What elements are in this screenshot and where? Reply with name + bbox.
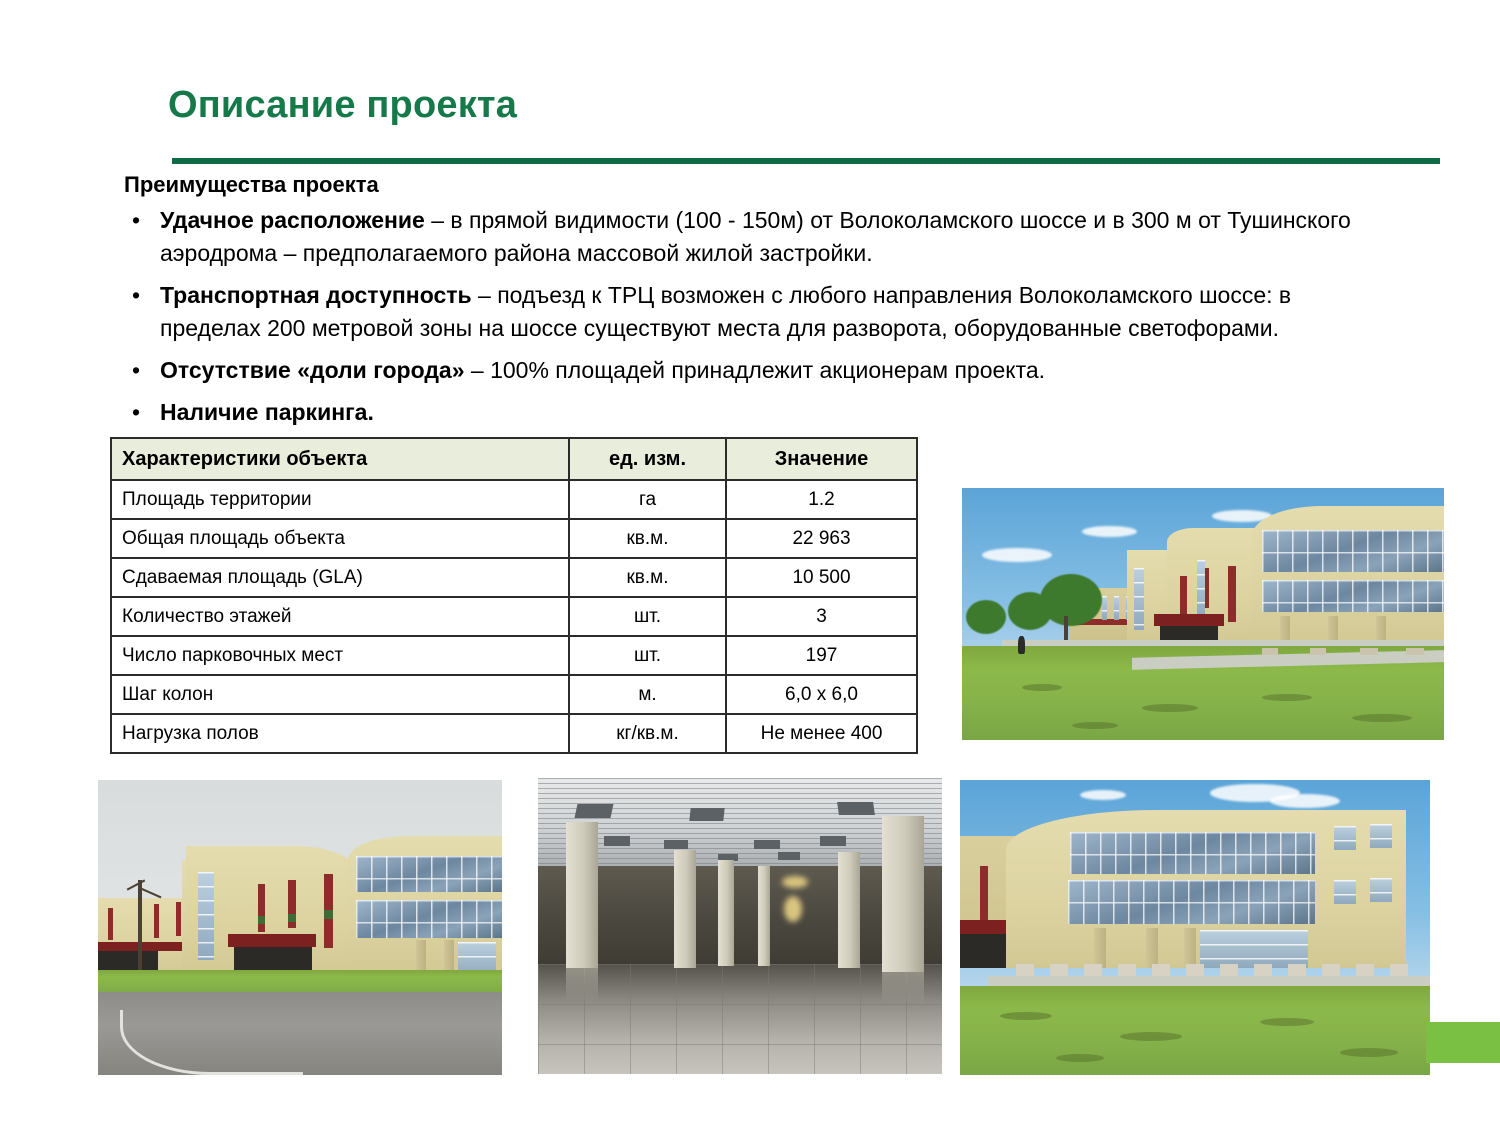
ceiling-light-panel: [837, 802, 875, 815]
cloud-shape: [1270, 794, 1340, 808]
interior-column: [674, 850, 696, 968]
ceiling-light-panel: [689, 808, 724, 821]
ceiling-light-panel: [575, 804, 614, 818]
colonnade-column: [1184, 928, 1196, 968]
lawn: [960, 986, 1430, 1075]
interior-column: [718, 860, 734, 966]
facade-accent-stripe: [258, 916, 265, 924]
tree-shape: [1008, 592, 1052, 630]
column-reflection: [566, 968, 598, 1002]
curtain-wall-glazing: [356, 900, 502, 938]
window-strip: [1114, 596, 1119, 620]
bollard: [1310, 648, 1326, 655]
facade-accent-stripe: [980, 866, 988, 922]
ceiling-light-panel: [820, 836, 846, 846]
list-item-lead: Удачное расположение: [160, 207, 425, 233]
interior-column: [566, 822, 598, 968]
tower-glazing: [198, 872, 214, 960]
column-header-characteristic: Характеристики объекта: [111, 438, 569, 480]
list-item-text: – 100% площадей принадлежит акционерам п…: [465, 357, 1046, 383]
facade-accent-stripe: [258, 884, 265, 932]
cell-unit: кв.м.: [569, 558, 726, 597]
table-header-row: Характеристики объекта ед. изм. Значение: [111, 438, 917, 480]
advantages-list: • Удачное расположение – в прямой видимо…: [124, 204, 1354, 438]
curtain-wall-glazing: [356, 856, 502, 892]
cell-unit: м.: [569, 675, 726, 714]
cell-value: 6,0 х 6,0: [726, 675, 917, 714]
curtain-wall-glazing: [1068, 880, 1315, 924]
entrance-doors: [1200, 930, 1308, 968]
grass-texture: [1352, 714, 1412, 722]
curtain-wall-glazing: [1070, 832, 1315, 874]
list-item: • Отсутствие «доли города» – 100% площад…: [124, 354, 1354, 387]
facade-accent-stripe: [324, 910, 333, 919]
photo-interior-hall: [538, 778, 942, 1074]
bullet-dot-icon: •: [132, 204, 140, 237]
table-row: Нагрузка полов кг/кв.м. Не менее 400: [111, 714, 917, 753]
column-reflection: [882, 972, 924, 1004]
window: [1370, 824, 1392, 848]
cell-characteristic: Количество этажей: [111, 597, 569, 636]
cell-value: 10 500: [726, 558, 917, 597]
cell-characteristic: Шаг колон: [111, 675, 569, 714]
entrance-canopy: [1154, 614, 1224, 626]
cell-unit: га: [569, 480, 726, 519]
cloud-shape: [1080, 790, 1126, 800]
facade-accent-stripe: [108, 908, 113, 940]
table-row: Количество этажей шт. 3: [111, 597, 917, 636]
bullet-dot-icon: •: [132, 279, 140, 312]
cell-value: 3: [726, 597, 917, 636]
bollard: [1360, 648, 1378, 655]
cell-characteristic: Общая площадь объекта: [111, 519, 569, 558]
ceiling-light-panel: [754, 840, 780, 849]
list-item-lead: Транспортная доступность: [160, 282, 472, 308]
table-row: Площадь территории га 1.2: [111, 480, 917, 519]
window-strip: [1102, 596, 1107, 620]
column-header-unit: ед. изм.: [569, 438, 726, 480]
entrance-canopy: [228, 934, 316, 947]
canopy-band: [98, 942, 194, 951]
colonnade-column: [1094, 928, 1106, 968]
cell-characteristic: Площадь территории: [111, 480, 569, 519]
table-row: Сдаваемая площадь (GLA) кв.м. 10 500: [111, 558, 917, 597]
cloud-shape: [982, 548, 1052, 562]
far-light-glow: [782, 876, 808, 888]
floor-light-reflection: [784, 896, 802, 922]
cell-unit: кв.м.: [569, 519, 726, 558]
photo-exterior-glass-facade: [960, 780, 1430, 1075]
bollard-row: [1016, 964, 1416, 976]
interior-column: [882, 816, 924, 972]
grass-texture: [1262, 694, 1312, 701]
bollard: [1262, 648, 1278, 655]
grass-texture: [1142, 704, 1198, 712]
grass-texture: [1022, 684, 1062, 691]
table-row: Число парковочных мест шт. 197: [111, 636, 917, 675]
cell-unit: шт.: [569, 636, 726, 675]
bollard: [1406, 648, 1424, 655]
interior-column: [758, 866, 770, 966]
bullet-dot-icon: •: [132, 396, 140, 429]
facade-accent-stripe: [176, 902, 181, 936]
column-header-value: Значение: [726, 438, 917, 480]
cell-value: 1.2: [726, 480, 917, 519]
colonnade-column: [1146, 928, 1158, 968]
decorative-accent-block: [1426, 1022, 1500, 1063]
facade-accent-stripe: [154, 904, 159, 938]
section-subheading: Преимущества проекта: [124, 172, 379, 198]
cell-value: Не менее 400: [726, 714, 917, 753]
window: [1334, 826, 1356, 850]
bullet-dot-icon: •: [132, 354, 140, 387]
ceiling-light-panel: [604, 836, 630, 846]
cell-characteristic: Нагрузка полов: [111, 714, 569, 753]
cell-unit: шт.: [569, 597, 726, 636]
grass-texture: [1260, 1018, 1314, 1026]
photo-exterior-front-sunny: [962, 488, 1444, 740]
grass-texture: [1340, 1048, 1398, 1057]
tree-trunk: [138, 880, 142, 972]
object-specs-table: Характеристики объекта ед. изм. Значение…: [110, 437, 918, 754]
grass-texture: [1056, 1054, 1104, 1062]
facade-accent-stripe: [288, 914, 296, 922]
colonnade-column: [416, 940, 426, 974]
tower-glazing: [1134, 568, 1144, 630]
grass-texture: [1120, 1032, 1182, 1041]
cell-characteristic: Сдаваемая площадь (GLA): [111, 558, 569, 597]
ceiling-light-panel: [778, 852, 800, 860]
cell-value: 197: [726, 636, 917, 675]
grass-texture: [1000, 1012, 1052, 1020]
grass-texture: [1072, 722, 1118, 729]
tower-glazing: [1197, 560, 1205, 618]
curtain-wall-glazing: [1262, 530, 1444, 572]
facade-accent-stripe: [1228, 566, 1236, 622]
title-divider-rule: [172, 158, 1440, 164]
window: [1334, 880, 1356, 904]
interior-column: [838, 852, 860, 968]
list-item-lead: Отсутствие «доли города»: [160, 357, 465, 383]
table-row: Общая площадь объекта кв.м. 22 963: [111, 519, 917, 558]
colonnade-column: [444, 940, 454, 974]
window: [1370, 878, 1392, 902]
cell-characteristic: Число парковочных мест: [111, 636, 569, 675]
list-item: • Наличие паркинга.: [124, 396, 1354, 429]
tree-trunk: [1064, 616, 1068, 642]
ceiling-light-panel: [664, 840, 688, 849]
list-item: • Транспортная доступность – подъезд к Т…: [124, 279, 1354, 345]
cell-unit: кг/кв.м.: [569, 714, 726, 753]
tree-shape: [966, 600, 1006, 634]
curtain-wall-glazing: [1262, 580, 1444, 612]
person-figure: [1018, 636, 1025, 654]
cell-value: 22 963: [726, 519, 917, 558]
cloud-shape: [1082, 526, 1137, 537]
page-title: Описание проекта: [168, 84, 517, 127]
list-item-lead: Наличие паркинга.: [160, 399, 374, 425]
list-item: • Удачное расположение – в прямой видимо…: [124, 204, 1354, 270]
table-row: Шаг колон м. 6,0 х 6,0: [111, 675, 917, 714]
photo-exterior-front-grey: [98, 780, 502, 1075]
